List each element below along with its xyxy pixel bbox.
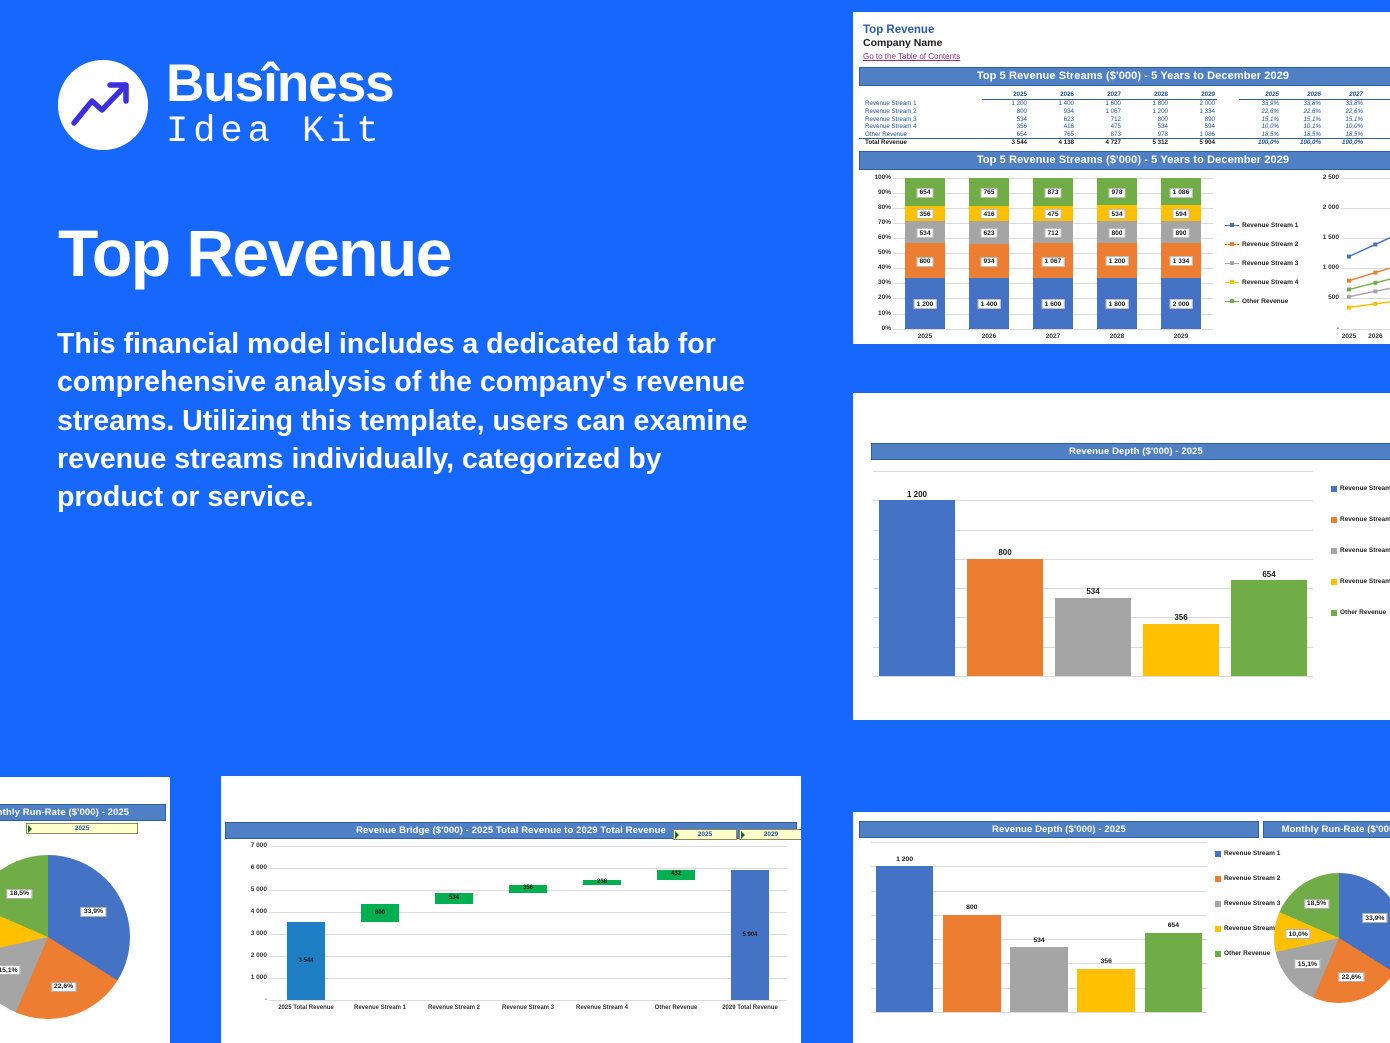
legend-label: Revenue Stream 4 <box>1340 578 1390 585</box>
pie-chart <box>0 855 130 1019</box>
bar-value-label: 623 <box>980 228 997 238</box>
legend-label: Revenue Stream 2 <box>1242 241 1298 248</box>
bar-value-label: 654 <box>916 188 933 198</box>
pie-slice-label: 10,0% <box>1286 929 1311 939</box>
legend-label: Revenue Stream 3 <box>1340 547 1390 554</box>
y-axis-tick: 70% <box>867 219 891 226</box>
y-axis-tick: 2 000 <box>1313 204 1339 211</box>
growth-arrow-icon <box>58 60 148 150</box>
column-bar <box>879 500 955 676</box>
legend-swatch <box>1331 517 1337 523</box>
y-axis-tick: 500 <box>1313 294 1339 301</box>
run-rate-title-band-right: Monthly Run-Rate ($'000 <box>1263 821 1390 838</box>
bar-value-label: 978 <box>1108 188 1125 198</box>
col-pct-2028: 2 <box>1365 91 1390 100</box>
bar-value-label: 534 <box>447 895 461 902</box>
charts-row-top: 0%10%20%30%40%50%60%70%80%90%100%1 20080… <box>853 170 1390 344</box>
bar-value-label: 475 <box>1044 209 1061 219</box>
legend-marker <box>1225 260 1239 267</box>
y-axis-tick: 5 000 <box>237 886 267 893</box>
y-axis-tick: 4 000 <box>237 908 267 915</box>
legend-item: Other Revenue <box>1225 298 1298 305</box>
legend-swatch <box>1331 579 1337 585</box>
col-year-2026: 2026 <box>1029 91 1076 100</box>
y-axis-tick: 80% <box>867 204 891 211</box>
bar-value-label: 890 <box>1172 228 1189 238</box>
run-rate-pie-right: 33,9%22,6%15,1%10,0%18,5% <box>1265 842 1390 1040</box>
bar-value-label: 1 600 <box>1042 299 1065 309</box>
line-series-group <box>1341 178 1390 329</box>
bar-value-label: 934 <box>980 257 997 267</box>
legend-swatch <box>1331 610 1337 616</box>
sheet-title: Top Revenue <box>863 24 1390 37</box>
x-axis-tick: 2025 <box>1342 333 1356 340</box>
y-axis-tick: 40% <box>867 264 891 271</box>
x-axis-tick: 2029 Total Revenue <box>722 1005 778 1011</box>
bar-value-label: 712 <box>1044 228 1061 238</box>
legend-label: Revenue Stream 4 <box>1242 279 1298 286</box>
sheet-subtitle: Company Name <box>863 37 1390 50</box>
bar-value-label: 1 086 <box>1170 188 1193 198</box>
col-year-2027: 2027 <box>1076 91 1123 100</box>
bar-value-label: 534 <box>1084 587 1101 597</box>
legend-item: Revenue Stream 3 <box>1225 260 1298 267</box>
page-title: Top Revenue <box>58 215 451 291</box>
y-axis-tick: 6 000 <box>237 864 267 871</box>
table-of-contents-link[interactable]: Go to the Table of Contents <box>863 52 1390 61</box>
bar-value-label: 765 <box>980 188 997 198</box>
stacked-bar-legend: Revenue Stream 1Revenue Stream 2Revenue … <box>1225 222 1298 317</box>
x-axis-tick: 2026 <box>1368 333 1382 340</box>
bar-value-label: 1 400 <box>978 299 1001 309</box>
brand-name-primary: Busîness <box>166 57 394 110</box>
legend-swatch <box>1215 876 1221 882</box>
bar-value-label: 654 <box>1166 922 1181 930</box>
pie-slice-label: 33,9% <box>81 907 106 917</box>
legend-marker <box>1225 279 1239 286</box>
pie-slice-label: 15,1% <box>1295 959 1320 969</box>
legend-swatch <box>1331 486 1337 492</box>
y-axis-tick: 1 000 <box>1313 264 1339 271</box>
bar-value-label: 356 <box>1099 958 1114 966</box>
revenue-depth-plot-bottom: 1 200800534356654 <box>871 842 1207 1012</box>
table-header-band: Top 5 Revenue Streams ($'000) - 5 Years … <box>859 67 1390 86</box>
y-axis-tick: 10% <box>867 310 891 317</box>
column-bar <box>1010 947 1068 1012</box>
bar-value-label: 1 200 <box>894 855 915 863</box>
bar-value-label: 1 200 <box>914 299 937 309</box>
trend-line-chart: -5001 0001 5002 0002 5002025202620272028 <box>1341 178 1390 343</box>
bar-value-label: 873 <box>1044 188 1061 198</box>
col-pct-2027: 2027 <box>1323 91 1365 100</box>
bar-value-label: 800 <box>373 909 387 916</box>
bar-value-label: 1 067 <box>1042 257 1065 267</box>
bar-value-label: 654 <box>1260 569 1277 579</box>
y-axis-tick: 60% <box>867 234 891 241</box>
y-axis-tick: 50% <box>867 249 891 256</box>
y-axis-tick: 1 500 <box>1313 234 1339 241</box>
legend-swatch <box>1215 951 1221 957</box>
table-row: Revenue Stream 2 800 934 1 067 1 200 1 3… <box>859 108 1390 116</box>
revenue-streams-table: 2025 2026 2027 2028 2029 2025 2026 2027 … <box>859 91 1390 147</box>
bar-value-label: 534 <box>916 228 933 238</box>
column-bar <box>1143 624 1219 676</box>
legend-label: Revenue Stream 1 <box>1340 485 1390 492</box>
bar-value-label: 1 334 <box>1170 256 1193 266</box>
legend-label: Other Revenue <box>1242 298 1288 305</box>
pie-slice-label: 33,9% <box>1362 913 1387 923</box>
x-axis-tick: Revenue Stream 1 <box>354 1005 406 1011</box>
legend-label: Revenue Stream 3 <box>1242 260 1298 267</box>
stacked-bar-chart: 0%10%20%30%40%50%60%70%80%90%100%1 20080… <box>893 178 1213 343</box>
bar-value-label: 356 <box>916 209 933 219</box>
revenue-bridge-card: Revenue Bridge ($'000) - 2025 Total Reve… <box>221 776 801 1043</box>
bar-value-label: 800 <box>916 257 933 267</box>
brand-lockup: Busîness Idea Kit <box>58 57 394 153</box>
run-rate-title-band-left: Monthly Run-Rate ($'000) - 2025 <box>0 804 166 821</box>
col-year-2025: 2025 <box>982 91 1029 100</box>
revenue-depth-legend: Revenue Stream 1Revenue Stream 2Revenue … <box>1331 485 1390 640</box>
revenue-depth-title-band-bottom: Revenue Depth ($'000) - 2025 <box>859 821 1259 838</box>
y-axis-tick: 3 000 <box>237 930 267 937</box>
bar-value-label: 3 544 <box>296 957 315 964</box>
y-axis-tick: - <box>237 996 267 1003</box>
legend-label: Other Revenue <box>1340 609 1386 616</box>
pie-slice-label: 18,5% <box>1304 899 1329 909</box>
pie-slice-label: 15,1% <box>0 965 21 975</box>
x-axis-tick: Revenue Stream 4 <box>576 1005 628 1011</box>
bar-value-label: 800 <box>996 548 1013 558</box>
column-bar <box>1145 933 1203 1012</box>
revenue-depth-title-band: Revenue Depth ($'000) - 2025 <box>871 443 1390 460</box>
bridge-year-to-selector[interactable]: 2029 <box>739 829 801 840</box>
y-axis-tick: 2 500 <box>1313 174 1339 181</box>
chart-header-band: Top 5 Revenue Streams ($'000) - 5 Years … <box>859 151 1390 170</box>
legend-swatch <box>1331 548 1337 554</box>
table-row: Revenue Stream 3 534 623 712 800 890 15,… <box>859 115 1390 123</box>
y-axis-tick: 30% <box>867 279 891 286</box>
bridge-year-from-selector[interactable]: 2025 <box>673 829 737 840</box>
revenue-depth-plot: 1 200800534356654 <box>873 471 1313 676</box>
pie-slice-label: 22,6% <box>51 982 76 992</box>
bar-value-label: 800 <box>1108 228 1125 238</box>
column-bar <box>943 915 1001 1012</box>
column-bar <box>1077 969 1135 1012</box>
revenue-depth-card-bottom: Revenue Depth ($'000) - 2025 Monthly Run… <box>853 812 1390 1043</box>
x-axis-tick: 2025 <box>918 333 932 340</box>
bar-value-label: 800 <box>964 904 979 912</box>
x-axis-tick: Revenue Stream 3 <box>502 1005 554 1011</box>
bar-value-label: 534 <box>1031 936 1046 944</box>
legend-swatch <box>1215 901 1221 907</box>
legend-label: Revenue Stream 2 <box>1340 516 1390 523</box>
column-bar <box>1231 580 1307 676</box>
bar-value-label: 1 200 <box>905 489 929 499</box>
run-rate-pie-left: 33,9%22,6%15,1%18,5% <box>0 845 170 1035</box>
legend-item: Revenue Stream 4 <box>1331 578 1390 585</box>
col-pct-2026: 2026 <box>1281 91 1323 100</box>
bar-value-label: 2 000 <box>1170 299 1193 309</box>
year-selector-left[interactable]: 2025 <box>26 823 138 834</box>
bar-value-label: 432 <box>669 871 683 878</box>
page-description: This financial model includes a dedicate… <box>57 325 757 517</box>
y-axis-tick: 90% <box>867 189 891 196</box>
legend-swatch <box>1215 851 1221 857</box>
brand-name-secondary: Idea Kit <box>166 112 394 153</box>
y-axis-tick: 2 000 <box>237 952 267 959</box>
legend-marker <box>1225 241 1239 248</box>
y-axis-tick: 100% <box>867 174 891 181</box>
x-axis-tick: 2029 <box>1174 333 1188 340</box>
table-row: Revenue Stream 4 356 416 475 534 594 10,… <box>859 123 1390 131</box>
table-header-row: 2025 2026 2027 2028 2029 2025 2026 2027 … <box>859 91 1390 100</box>
bar-value-label: 1 800 <box>1106 299 1129 309</box>
y-axis-tick: - <box>1313 325 1339 332</box>
column-bar <box>1055 598 1131 676</box>
bar-value-label: 5 904 <box>740 931 759 938</box>
col-year-2029: 2029 <box>1170 91 1217 100</box>
legend-item: Revenue Stream 1 <box>1225 222 1298 229</box>
x-axis-tick: 2028 <box>1110 333 1124 340</box>
bar-value-label: 534 <box>1108 209 1125 219</box>
bar-value-label: 356 <box>521 885 535 892</box>
legend-item: Revenue Stream 2 <box>1225 241 1298 248</box>
x-axis-tick: 2027 <box>1046 333 1060 340</box>
legend-item: Revenue Stream 4 <box>1225 279 1298 286</box>
legend-label: Other Revenue <box>1224 950 1270 957</box>
x-axis-tick: Revenue Stream 2 <box>428 1005 480 1011</box>
pie-slice-label: 18,5% <box>7 889 32 899</box>
y-axis-tick: 20% <box>867 294 891 301</box>
bar-value-label: 356 <box>1172 613 1189 623</box>
spreadsheet-card-top: Top Revenue Company Name Go to the Table… <box>853 12 1390 344</box>
bar-value-label: 416 <box>980 209 997 219</box>
revenue-bridge-plot: -1 0002 0003 0004 0005 0006 0007 0003 54… <box>269 846 787 1018</box>
legend-swatch <box>1215 926 1221 932</box>
revenue-depth-card: Revenue Depth ($'000) - 2025 1 200800534… <box>853 393 1390 720</box>
x-axis-tick: 2025 Total Revenue <box>278 1005 334 1011</box>
x-axis-tick: 2026 <box>982 333 996 340</box>
bar-value-label: 1 200 <box>1106 256 1129 266</box>
y-axis-tick: 7 000 <box>237 842 267 849</box>
legend-item: Revenue Stream 2 <box>1331 516 1390 523</box>
legend-item: Revenue Stream 3 <box>1331 547 1390 554</box>
legend-label: Revenue Stream 1 <box>1242 222 1298 229</box>
column-bar <box>876 866 934 1012</box>
col-year-2028: 2028 <box>1123 91 1170 100</box>
legend-item: Other Revenue <box>1331 609 1390 616</box>
column-bar <box>967 559 1043 676</box>
y-axis-tick: 1 000 <box>237 974 267 981</box>
legend-item: Revenue Stream 1 <box>1331 485 1390 492</box>
col-pct-2025: 2025 <box>1239 91 1281 100</box>
table-row: Revenue Stream 1 1 200 1 400 1 600 1 800… <box>859 100 1390 108</box>
table-total-row: Total Revenue 3 544 4 138 4 727 5 312 5 … <box>859 139 1390 147</box>
legend-marker <box>1225 298 1239 305</box>
bar-value-label: 238 <box>595 878 609 885</box>
x-axis-tick: Other Revenue <box>655 1005 698 1011</box>
pie-slice-label: 22,6% <box>1339 972 1364 982</box>
table-row: Other Revenue 654 765 873 978 1 086 18,5… <box>859 130 1390 138</box>
y-axis-tick: 0% <box>867 325 891 332</box>
bar-value-label: 594 <box>1172 209 1189 219</box>
monthly-run-rate-card-left: Monthly Run-Rate ($'000) - 2025 2025 33,… <box>0 777 170 1043</box>
legend-marker <box>1225 222 1239 229</box>
